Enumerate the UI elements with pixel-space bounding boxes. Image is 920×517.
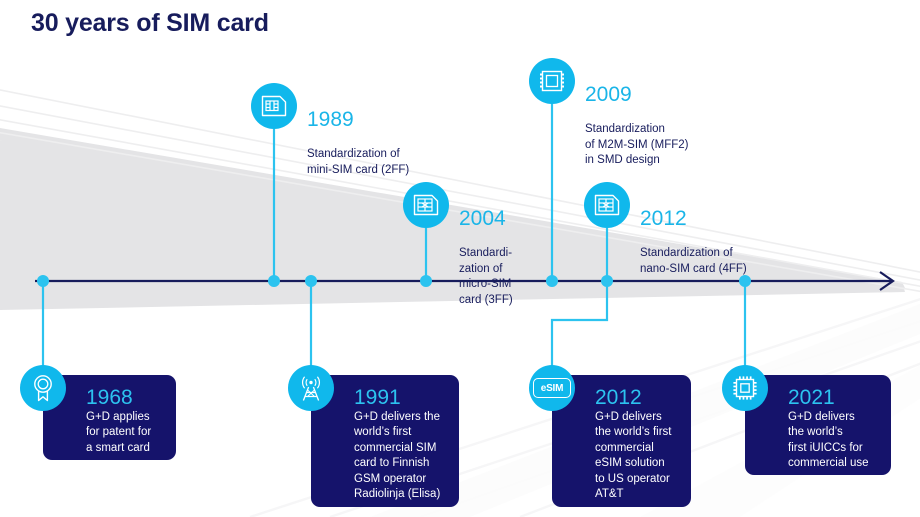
marker-year-1989: 1989 — [307, 109, 409, 131]
axis-dot-2012 — [601, 275, 613, 287]
radio-tower-icon — [297, 374, 325, 402]
marker-text-1989: Standardization of mini-SIM card (2FF) — [307, 148, 409, 176]
axis-dot-1968 — [37, 275, 49, 287]
microchip-icon — [731, 374, 759, 402]
card-badge-1968[interactable] — [20, 365, 66, 411]
axis-dot-2009 — [546, 275, 558, 287]
marker-icon-1989[interactable] — [251, 83, 297, 129]
card-text-1991: G+D delivers the world’s first commercia… — [354, 410, 440, 502]
card-text-2012-esim: G+D delivers the world’s first commercia… — [595, 410, 671, 502]
marker-icon-2004[interactable] — [403, 182, 449, 228]
card-year-1968: 1968 — [86, 386, 151, 409]
marker-year-2012-nano: 2012 — [640, 208, 747, 230]
marker-label-2012-nano: 2012 Standardization of nano-SIM card (4… — [640, 192, 747, 277]
card-year-2012-esim: 2012 — [595, 386, 671, 409]
marker-label-1989: 1989 Standardization of mini-SIM card (2… — [307, 93, 409, 178]
stem-2012-esim-elbow — [552, 281, 607, 372]
axis-dot-1989 — [268, 275, 280, 287]
marker-year-2004: 2004 — [459, 208, 513, 230]
card-text-1968: G+D applies for patent for a smart card — [86, 410, 151, 456]
award-medal-icon — [31, 374, 55, 402]
card-badge-2012-esim[interactable]: eSIM — [529, 365, 575, 411]
micro-sim-card-icon — [413, 194, 439, 216]
card-badge-1991[interactable] — [288, 365, 334, 411]
m2m-sim-smd-chip-icon — [539, 69, 565, 93]
esim-badge-icon: eSIM — [533, 378, 571, 398]
marker-label-2009: 2009 Standardization of M2M-SIM (MFF2) i… — [585, 68, 689, 169]
event-card-1991[interactable]: 1991 G+D delivers the world’s first comm… — [311, 375, 459, 507]
marker-text-2004: Standardi- zation of micro-SIM card (3FF… — [459, 247, 513, 306]
card-badge-2021[interactable] — [722, 365, 768, 411]
marker-year-2009: 2009 — [585, 84, 689, 106]
esim-badge-label: eSIM — [541, 383, 564, 394]
marker-text-2012-nano: Standardization of nano-SIM card (4FF) — [640, 247, 747, 275]
mini-sim-card-icon — [261, 95, 287, 117]
axis-dot-1991 — [305, 275, 317, 287]
infographic-canvas: 30 years of SIM card — [0, 0, 920, 517]
marker-label-2004: 2004 Standardi- zation of micro-SIM card… — [459, 192, 513, 308]
card-year-2021: 2021 — [788, 386, 869, 409]
axis-dot-2004 — [420, 275, 432, 287]
page-title: 30 years of SIM card — [31, 9, 269, 38]
marker-text-2009: Standardization of M2M-SIM (MFF2) in SMD… — [585, 123, 689, 166]
card-year-1991: 1991 — [354, 386, 440, 409]
nano-sim-card-icon — [594, 194, 620, 216]
marker-icon-2012-nano[interactable] — [584, 182, 630, 228]
card-text-2021: G+D delivers the world’s first iUICCs fo… — [788, 410, 869, 472]
marker-icon-2009[interactable] — [529, 58, 575, 104]
